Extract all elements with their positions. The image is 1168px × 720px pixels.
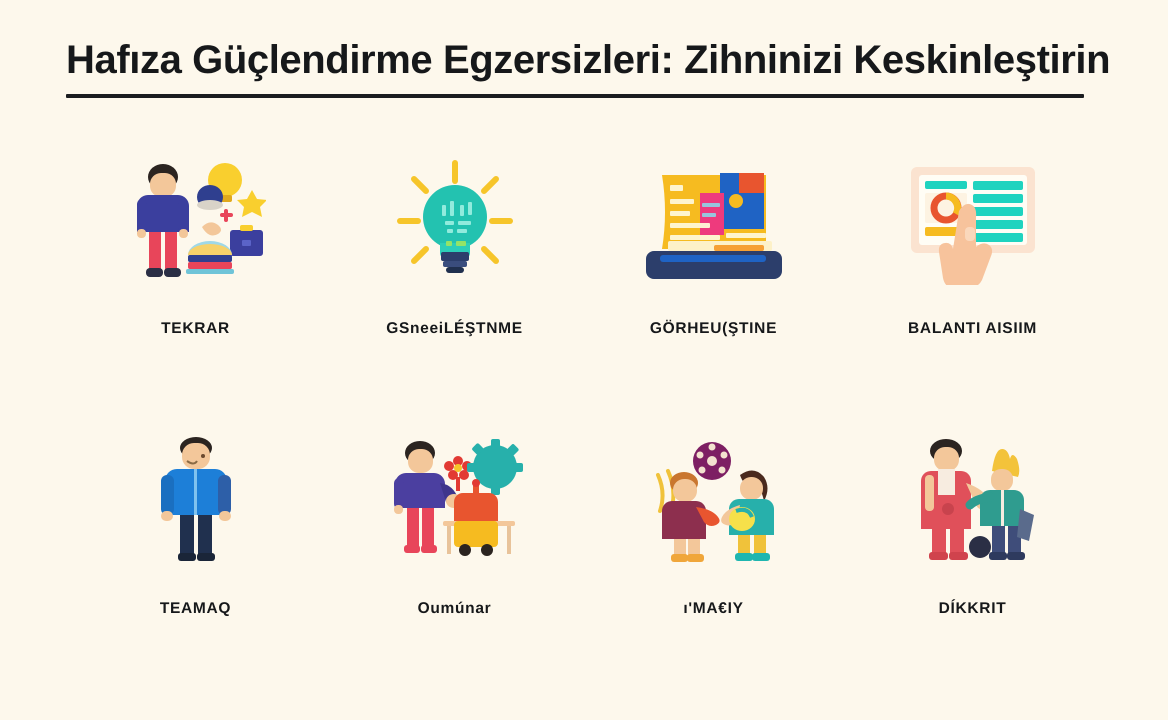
title-underline-rule — [66, 94, 1084, 98]
hand-pointing-dashboard-icon — [898, 150, 1048, 290]
stacked-books-papers-icon — [639, 150, 789, 290]
card-tekrarla[interactable]: TEAMAQ — [66, 430, 325, 645]
person-blue-jacket-icon — [121, 430, 271, 570]
adult-child-ball-icon — [898, 430, 1048, 570]
icon-grid: TEKRAR — [66, 150, 1102, 645]
person-with-lightbulb-books-icon — [121, 150, 271, 290]
card-label-tekrarla: TEAMAQ — [160, 600, 231, 618]
card-gorsellestirme[interactable]: GÖRHEU(ŞTINE — [584, 150, 843, 365]
card-oyun[interactable]: ı'MA€IY — [584, 430, 843, 645]
teal-lightbulb-icon — [380, 150, 530, 290]
card-tekrar[interactable]: TEKRAR — [66, 150, 325, 365]
title-block: Hafıza Güçlendirme Egzersizleri: Zihnini… — [66, 38, 1086, 98]
card-dikkat[interactable]: DÍKKRIT — [843, 430, 1102, 645]
card-genellestirme[interactable]: GSneeiLÉŞTNME — [325, 150, 584, 365]
card-label-oyun: ı'MA€IY — [683, 600, 743, 618]
card-label-dikkat: DÍKKRIT — [939, 600, 1007, 618]
page-title: Hafıza Güçlendirme Egzersizleri: Zihnini… — [66, 38, 1086, 83]
card-label-tekrar: TEKRAR — [161, 320, 230, 338]
person-flower-robot-desk-icon — [380, 430, 530, 570]
infographic-poster: Hafıza Güçlendirme Egzersizleri: Zihnini… — [0, 0, 1168, 720]
card-label-baglanti-kurma: BALANTI AISIIM — [908, 320, 1037, 338]
card-label-genellestirme: GSneeiLÉŞTNME — [386, 320, 523, 338]
card-label-odaklanma: Oumúnar — [418, 600, 492, 618]
two-children-ball-icon — [639, 430, 789, 570]
card-label-gorsellestirme: GÖRHEU(ŞTINE — [650, 320, 777, 338]
card-baglanti-kurma[interactable]: BALANTI AISIIM — [843, 150, 1102, 365]
card-odaklanma[interactable]: Oumúnar — [325, 430, 584, 645]
